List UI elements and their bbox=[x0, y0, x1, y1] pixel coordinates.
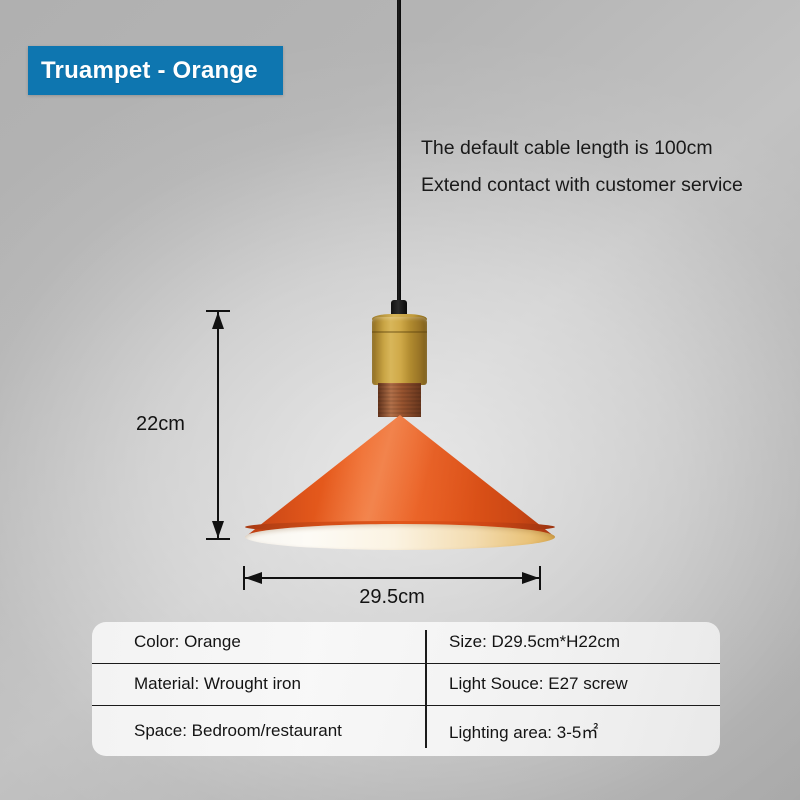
copper-ribbed-band bbox=[378, 383, 421, 417]
shade-inner-rim bbox=[245, 524, 555, 550]
specification-column-divider bbox=[425, 630, 427, 748]
specification-card: Color: Orange Size: D29.5cm*H22cm Materi… bbox=[92, 622, 720, 756]
height-dimension-line bbox=[217, 312, 219, 540]
spec-light-source-cell: Light Souce: E27 screw bbox=[406, 663, 720, 705]
width-dimension-label: 29.5cm bbox=[0, 586, 784, 609]
specification-table: Color: Orange Size: D29.5cm*H22cm Materi… bbox=[92, 622, 720, 756]
height-arrow-down-icon bbox=[212, 521, 224, 538]
spec-lighting-area-cell: Lighting area: 3-5㎡ bbox=[406, 705, 720, 756]
product-image-canvas: Truampet - Orange The default cable leng… bbox=[0, 0, 800, 800]
table-row: Space: Bedroom/restaurant Lighting area:… bbox=[92, 705, 720, 756]
width-arrow-right-icon bbox=[522, 572, 539, 584]
customer-service-note: Extend contact with customer service bbox=[421, 167, 781, 204]
cable-note-block: The default cable length is 100cm Extend… bbox=[421, 130, 781, 204]
height-dimension-label: 22cm bbox=[136, 413, 185, 436]
brass-socket-housing bbox=[372, 317, 427, 385]
table-row: Color: Orange Size: D29.5cm*H22cm bbox=[92, 622, 720, 663]
height-arrow-up-icon bbox=[212, 312, 224, 329]
height-dimension-cap-bottom bbox=[206, 538, 230, 540]
shade-highlight bbox=[245, 415, 555, 537]
spec-material-cell: Material: Wrought iron bbox=[92, 663, 406, 705]
table-row: Material: Wrought iron Light Souce: E27 … bbox=[92, 663, 720, 705]
variant-title-badge: Truampet - Orange bbox=[28, 46, 283, 95]
width-dimension-line bbox=[243, 577, 541, 579]
spec-size-cell: Size: D29.5cm*H22cm bbox=[406, 622, 720, 663]
variant-title-label: Truampet - Orange bbox=[28, 57, 258, 85]
spec-color-cell: Color: Orange bbox=[92, 622, 406, 663]
specification-table-body: Color: Orange Size: D29.5cm*H22cm Materi… bbox=[92, 622, 720, 756]
cable-length-note: The default cable length is 100cm bbox=[421, 130, 781, 167]
width-arrow-left-icon bbox=[245, 572, 262, 584]
pendant-cable bbox=[397, 0, 401, 312]
socket-seam-line bbox=[372, 331, 427, 333]
spec-space-cell: Space: Bedroom/restaurant bbox=[92, 705, 406, 756]
